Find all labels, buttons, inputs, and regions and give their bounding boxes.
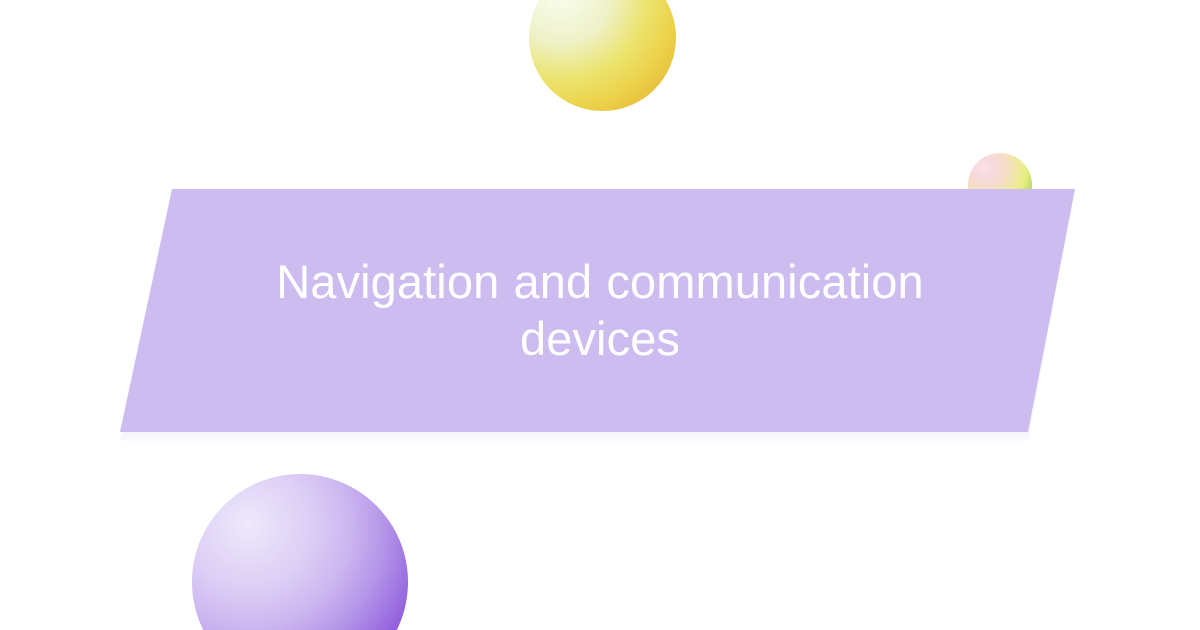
sphere-decoration-icon-yellow bbox=[529, 0, 676, 111]
banner-graphic-canvas: Navigation and communication devices bbox=[0, 0, 1200, 630]
title-banner: Navigation and communication devices bbox=[0, 189, 1200, 432]
sphere-decoration-icon-purple bbox=[192, 474, 408, 630]
page-title: Navigation and communication devices bbox=[205, 253, 995, 367]
